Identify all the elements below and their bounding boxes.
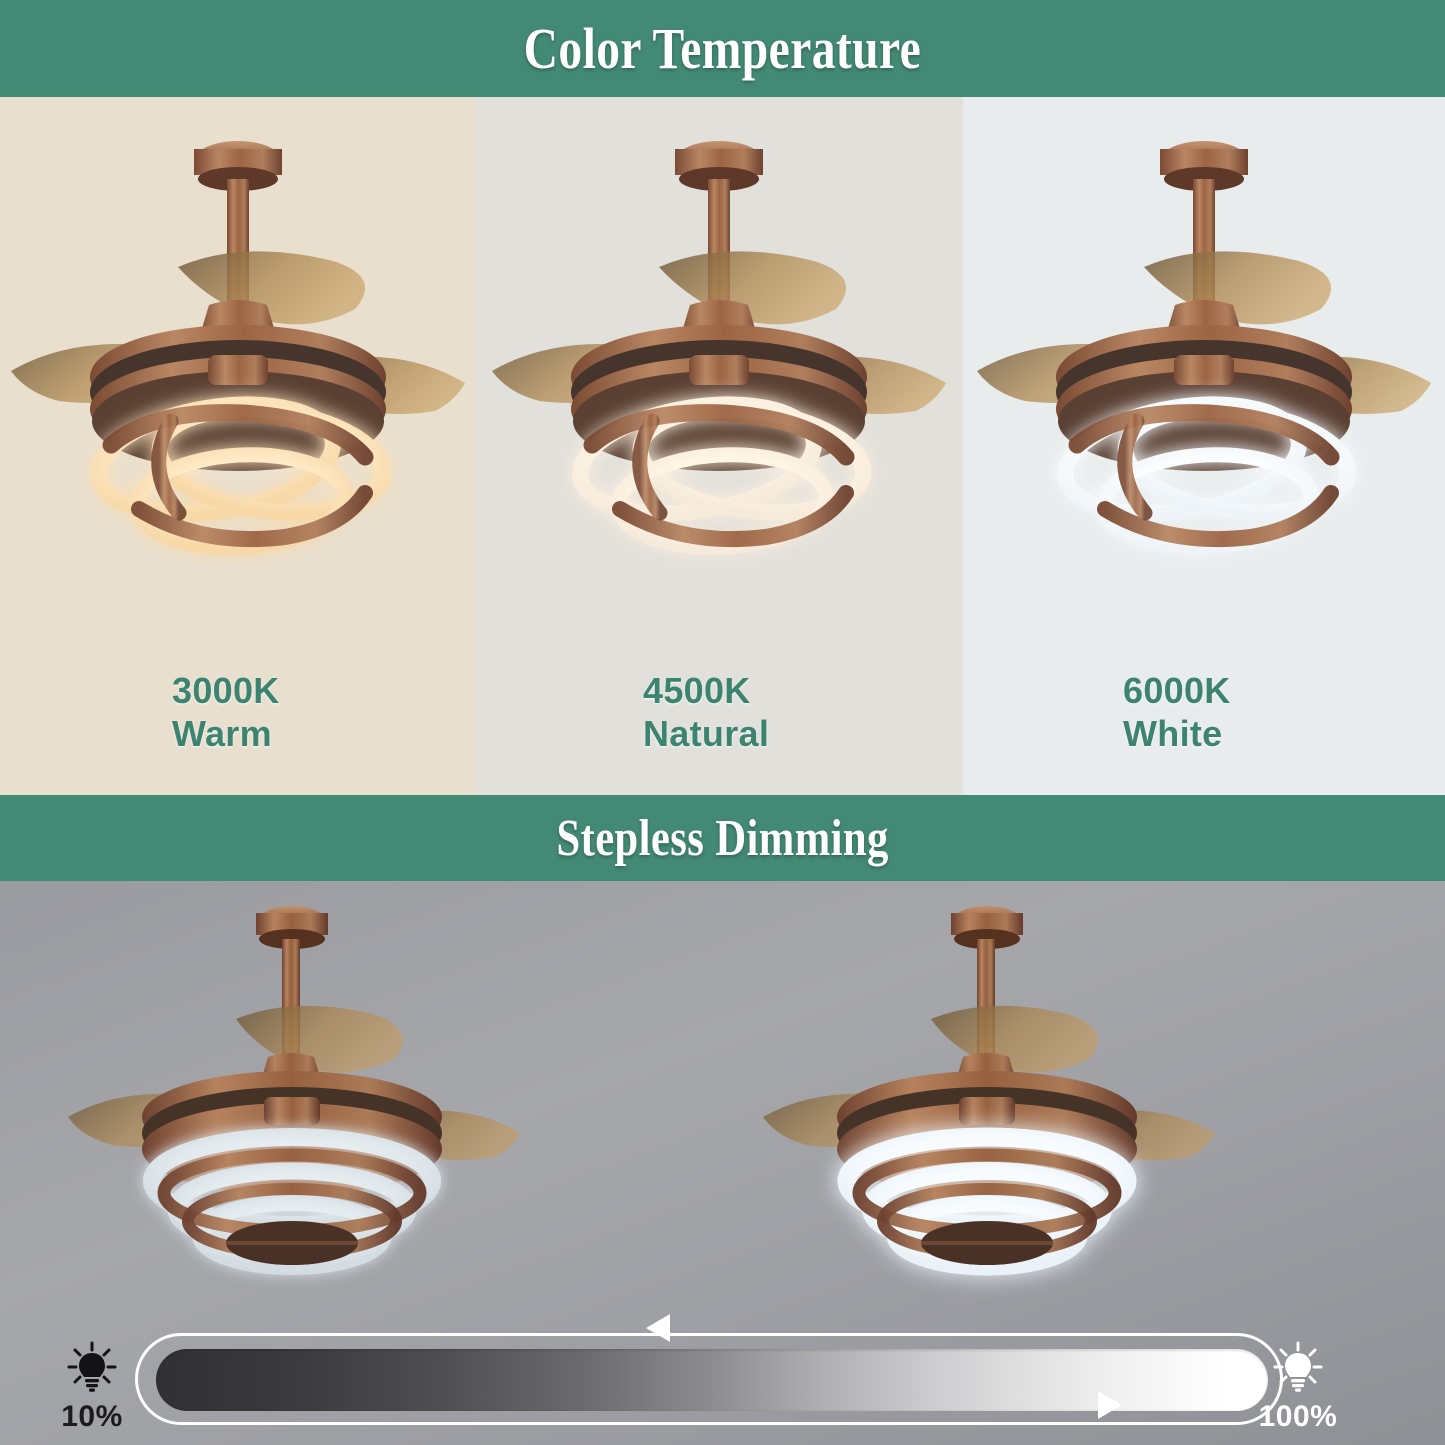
dim-min-group: 10% (32, 1341, 152, 1434)
color-temperature-panel-3000k: 3000K Warm (0, 97, 475, 795)
color-temperature-panel-4500k: 4500K Natural (475, 97, 963, 795)
kelvin-label-3000k: 3000K (172, 669, 475, 712)
dim-max-group: 100% (1238, 1341, 1358, 1434)
ceiling-fan-image-6000k (969, 109, 1439, 669)
tone-label-4500k: Natural (643, 712, 963, 755)
arrow-right-icon[interactable] (1098, 1391, 1122, 1419)
ceiling-fan-image-4500k (484, 109, 954, 669)
dim-max-label: 100% (1238, 1400, 1358, 1434)
ceiling-fan-image-dim-low (50, 891, 610, 1321)
dimming-slider-frame[interactable] (135, 1333, 1283, 1425)
ceiling-fan-image-3000k (3, 109, 473, 669)
caption-3000k: 3000K Warm (0, 669, 475, 755)
banner-top-title: Color Temperature (524, 15, 922, 82)
caption-4500k: 4500K Natural (475, 669, 963, 755)
banner-color-temperature: Color Temperature (0, 0, 1445, 97)
arrow-left-icon[interactable] (646, 1314, 670, 1342)
lightbulb-bright-icon (1272, 1341, 1324, 1393)
banner-middle-title: Stepless Dimming (556, 809, 888, 868)
banner-stepless-dimming: Stepless Dimming (0, 795, 1445, 881)
lightbulb-dim-icon (66, 1341, 118, 1393)
dim-min-label: 10% (32, 1400, 152, 1434)
tone-label-6000k: White (1123, 712, 1445, 755)
color-temperature-section: 3000K Warm (0, 97, 1445, 795)
kelvin-label-6000k: 6000K (1123, 669, 1445, 712)
infographic-page: Color Temperature (0, 0, 1445, 1445)
dimming-slider-control[interactable]: 10% 10 (0, 1341, 1445, 1441)
color-temperature-panel-6000k: 6000K White (963, 97, 1445, 795)
kelvin-label-4500k: 4500K (643, 669, 963, 712)
tone-label-3000k: Warm (172, 712, 475, 755)
ceiling-fan-image-dim-high (745, 891, 1305, 1321)
caption-6000k: 6000K White (963, 669, 1445, 755)
